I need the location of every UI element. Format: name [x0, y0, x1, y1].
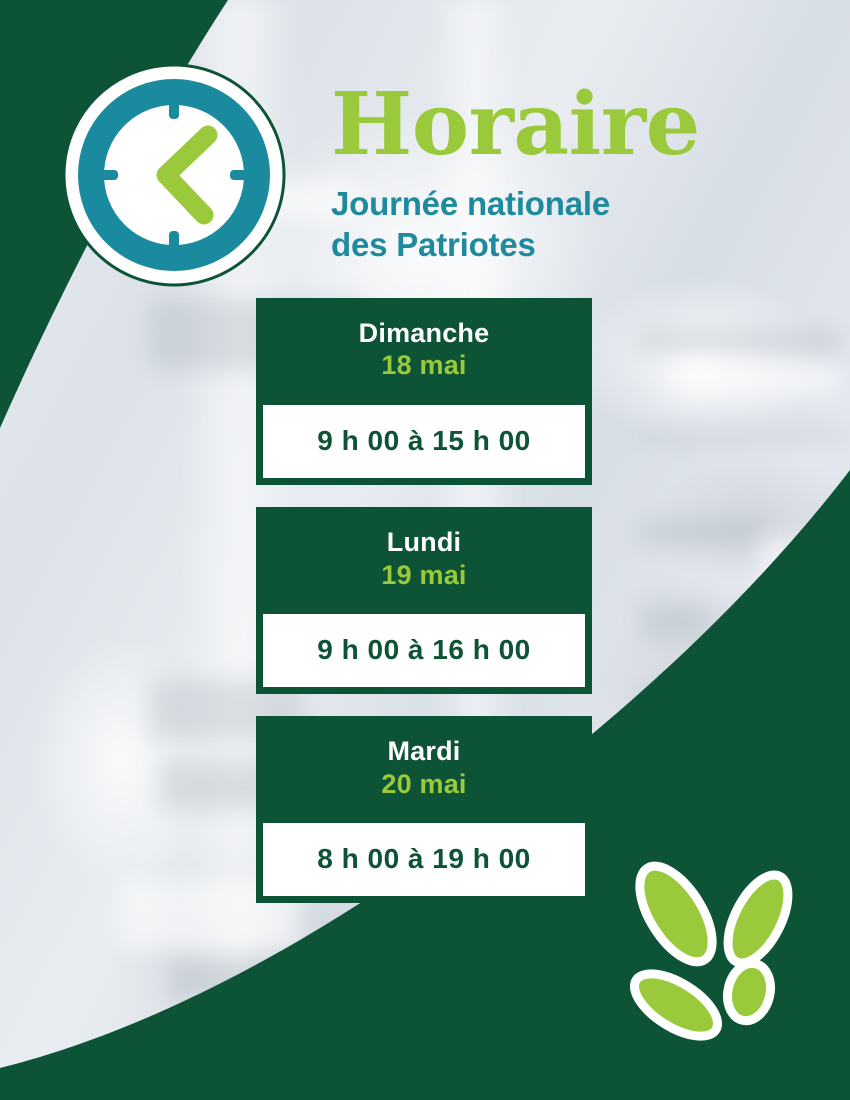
- schedule-card-hours-box: 9 h 00 à 15 h 00: [261, 403, 587, 480]
- poster-subtitle: Journée nationale des Patriotes: [331, 184, 791, 266]
- butterfly-logo-icon: [618, 858, 816, 1056]
- schedule-card-date: 20 mai: [266, 768, 582, 802]
- petal-upper-right: [716, 866, 801, 972]
- schedule-card-hours-box: 8 h 00 à 19 h 00: [261, 821, 587, 898]
- schedule-card-hours-box: 9 h 00 à 16 h 00: [261, 612, 587, 689]
- petal-lower-right: [722, 959, 776, 1025]
- schedule-card: Lundi 19 mai 9 h 00 à 16 h 00: [256, 507, 592, 694]
- petal-lower-left: [624, 961, 727, 1048]
- schedule-card-date: 18 mai: [266, 349, 582, 383]
- schedule-card-hours: 8 h 00 à 19 h 00: [317, 843, 530, 874]
- schedule-card: Dimanche 18 mai 9 h 00 à 15 h 00: [256, 298, 592, 485]
- petal-upper-left: [625, 858, 726, 974]
- schedule-card-date: 19 mai: [266, 559, 582, 593]
- schedule-card-hours-wrap: 9 h 00 à 15 h 00: [256, 403, 592, 485]
- schedule-card-list: Dimanche 18 mai 9 h 00 à 15 h 00 Lundi 1…: [256, 298, 592, 925]
- schedule-card-day: Dimanche: [266, 317, 582, 349]
- schedule-card: Mardi 20 mai 8 h 00 à 19 h 00: [256, 716, 592, 903]
- schedule-card-hours: 9 h 00 à 16 h 00: [317, 634, 530, 665]
- schedule-poster: Horaire Journée nationale des Patriotes …: [0, 0, 850, 1100]
- clock-icon: [62, 63, 286, 287]
- schedule-card-header: Mardi 20 mai: [256, 716, 592, 821]
- page-title: Horaire: [331, 84, 791, 166]
- schedule-card-header: Lundi 19 mai: [256, 507, 592, 612]
- schedule-card-hours-wrap: 8 h 00 à 19 h 00: [256, 821, 592, 903]
- schedule-card-header: Dimanche 18 mai: [256, 298, 592, 403]
- schedule-card-hours-wrap: 9 h 00 à 16 h 00: [256, 612, 592, 694]
- schedule-card-day: Lundi: [266, 526, 582, 558]
- subtitle-line-2: des Patriotes: [331, 225, 791, 266]
- schedule-card-hours: 9 h 00 à 15 h 00: [317, 425, 530, 456]
- schedule-card-day: Mardi: [266, 735, 582, 767]
- poster-header: Horaire Journée nationale des Patriotes: [331, 84, 791, 266]
- subtitle-line-1: Journée nationale: [331, 184, 791, 225]
